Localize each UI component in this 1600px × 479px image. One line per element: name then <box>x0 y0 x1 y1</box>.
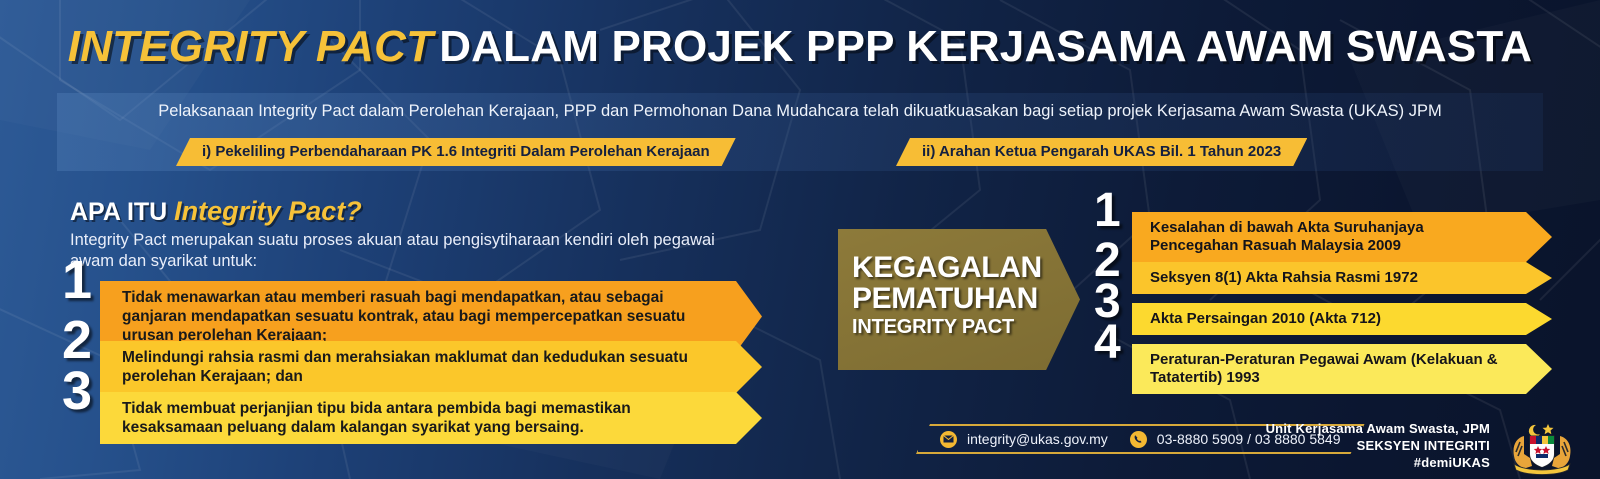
definition-item-2-text: Melindungi rahsia rasmi dan merahsiakan … <box>100 341 762 393</box>
malaysia-coat-of-arms-icon <box>1502 418 1582 476</box>
envelope-icon <box>940 431 957 448</box>
unit-attribution: Unit Kerjasama Awam Swasta, JPM SEKSYEN … <box>1266 420 1490 471</box>
unit-line-3: #demiUKAS <box>1266 454 1490 471</box>
page-title-highlight: INTEGRITY PACT <box>68 22 433 71</box>
reference-tag-1[interactable]: i) Pekeliling Perbendaharaan PK 1.6 Inte… <box>176 138 736 166</box>
definition-item-3-text: Tidak membuat perjanjian tipu bida antar… <box>100 392 762 444</box>
offence-item-2-text: Seksyen 8(1) Akta Rahsia Rasmi 1972 <box>1132 262 1552 294</box>
offence-item-1-number: 1 <box>1094 187 1121 235</box>
definition-item-3-number: 3 <box>62 364 92 418</box>
page-title-rest: DALAM PROJEK PPP KERJASAMA AWAM SWASTA <box>439 22 1532 71</box>
unit-line-1: Unit Kerjasama Awam Swasta, JPM <box>1266 420 1490 437</box>
definition-heading: APA ITU Integrity Pact? <box>70 196 362 227</box>
offence-item-4-text: Peraturan-Peraturan Pegawai Awam (Kelaku… <box>1132 344 1552 394</box>
unit-line-2: SEKSYEN INTEGRITI <box>1266 437 1490 454</box>
reference-tag-2[interactable]: ii) Arahan Ketua Pengarah UKAS Bil. 1 Ta… <box>896 138 1307 166</box>
phone-icon <box>1130 431 1147 448</box>
consequence-block-text: KEGAGALAN PEMATUHAN INTEGRITY PACT <box>852 252 1052 340</box>
definition-heading-plain: APA ITU <box>70 198 167 226</box>
infographic-banner: INTEGRITY PACTDALAM PROJEK PPP KERJASAMA… <box>0 0 1600 479</box>
contact-email[interactable]: integrity@ukas.gov.my <box>967 431 1108 447</box>
offence-item-4-number: 4 <box>1094 319 1121 367</box>
definition-heading-italic: Integrity Pact? <box>174 196 362 226</box>
subtitle-text: Pelaksanaan Integrity Pact dalam Peroleh… <box>57 102 1543 121</box>
definition-lead-text: Integrity Pact merupakan suatu proses ak… <box>70 230 760 272</box>
page-title: INTEGRITY PACTDALAM PROJEK PPP KERJASAMA… <box>0 22 1600 72</box>
definition-item-2-number: 2 <box>62 313 92 367</box>
definition-item-1-number: 1 <box>62 253 92 307</box>
consequence-line-3: INTEGRITY PACT <box>852 314 1052 340</box>
consequence-line-2: PEMATUHAN <box>852 283 1052 314</box>
consequence-line-1: KEGAGALAN <box>852 252 1052 283</box>
offence-item-1-text: Kesalahan di bawah Akta Suruhanjaya Penc… <box>1132 212 1552 262</box>
offence-item-3-text: Akta Persaingan 2010 (Akta 712) <box>1132 303 1552 335</box>
